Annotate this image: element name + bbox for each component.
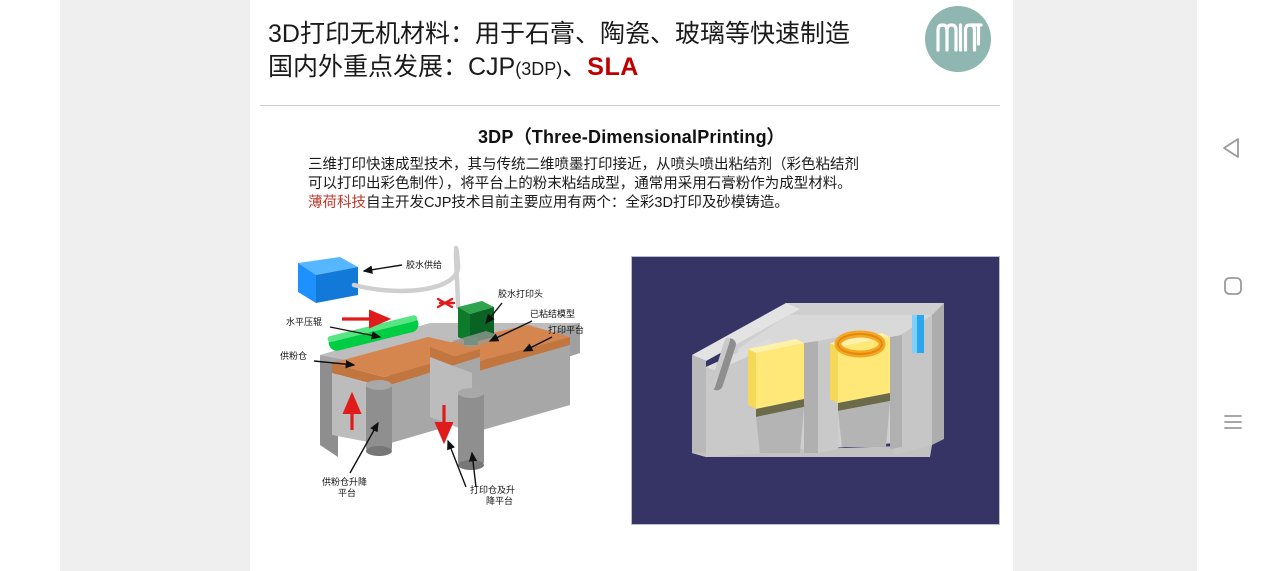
figure-3dp-render (631, 256, 1000, 525)
slide-title-separator: 、 (562, 53, 587, 81)
label-powder-lift-line1: 供粉仓升降 (322, 476, 367, 487)
header-divider (260, 105, 1000, 106)
slide-title-line-2: 国内外重点发展：CJP(3DP)、SLA (268, 51, 948, 86)
back-button[interactable] (1216, 131, 1250, 165)
label-print-platform: 打印平台 (548, 324, 584, 335)
right-gray-gutter (1013, 0, 1197, 571)
label-build-lift-line1: 打印仓及升 (470, 484, 515, 495)
label-glue-supply: 胶水供给 (406, 259, 442, 270)
slide-title-accent: SLA (587, 53, 639, 81)
paragraph-line-3: 薄荷科技自主开发CJP技术目前主要应用有两个：全彩3D打印及砂模铸造。 (308, 194, 968, 213)
body-paragraph: 三维打印快速成型技术，其与传统二维喷墨打印接近，从喷头喷出粘结剂（彩色粘结剂 可… (308, 156, 968, 213)
figure-3dp-schematic: 胶水供给 胶水打印头 已粘结模型 打印平台 水平压辊 供粉仓 供粉仓升降 (280, 245, 630, 505)
mint-logo (925, 6, 991, 72)
label-glue-print-head: 胶水打印头 (498, 288, 543, 299)
label-leveling-roller: 水平压辊 (286, 316, 322, 327)
left-white-edge (0, 0, 60, 571)
brand-name: 薄荷科技 (308, 195, 366, 211)
slide-title-prefix: 国内外重点发展：CJP (268, 53, 515, 81)
slide-title-line-1: 3D打印无机材料：用于石膏、陶瓷、玻璃等快速制造 (268, 18, 948, 51)
paragraph-line-3-rest: 自主开发CJP技术目前主要应用有两个：全彩3D打印及砂模铸造。 (366, 195, 789, 211)
section-title: 3DP（Three-DimensionalPrinting） (250, 123, 1013, 149)
label-bonded-model: 已粘结模型 (530, 308, 575, 319)
label-build-lift-line2: 降平台 (486, 495, 513, 505)
app-screen: 3D打印无机材料：用于石膏、陶瓷、玻璃等快速制造 国内外重点发展：CJP(3DP… (0, 0, 1269, 571)
home-button[interactable] (1216, 269, 1250, 303)
label-powder-bin: 供粉仓 (280, 350, 307, 361)
slide-header: 3D打印无机材料：用于石膏、陶瓷、玻璃等快速制造 国内外重点发展：CJP(3DP… (268, 18, 948, 86)
label-powder-lift-line2: 平台 (338, 487, 356, 498)
left-gray-gutter (60, 0, 250, 571)
slide-page[interactable]: 3D打印无机材料：用于石膏、陶瓷、玻璃等快速制造 国内外重点发展：CJP(3DP… (250, 0, 1013, 571)
paragraph-line-2: 可以打印出彩色制件），将平台上的粉末粘结成型，通常用采用石膏粉作为成型材料。 (308, 175, 968, 194)
recents-button[interactable] (1216, 405, 1250, 439)
slide-title-paren: (3DP) (515, 59, 562, 79)
paragraph-line-1: 三维打印快速成型技术，其与传统二维喷墨打印接近，从喷头喷出粘结剂（彩色粘结剂 (308, 156, 968, 175)
